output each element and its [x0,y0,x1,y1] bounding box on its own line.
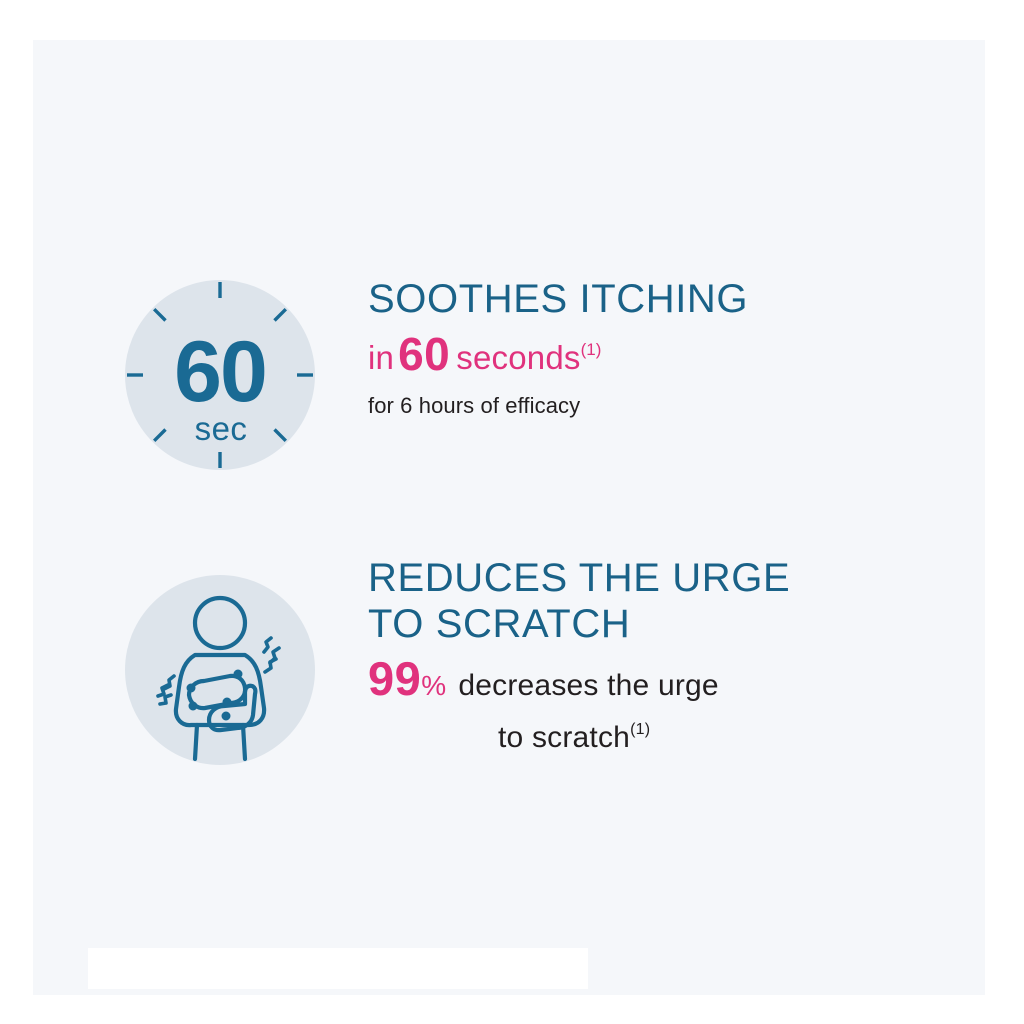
bottom-white-bar [88,948,588,989]
claim-suffix: seconds [456,339,580,376]
product-benefits-panel: 60 sec SOOTHES ITCHING in60seconds(1) fo… [0,0,1024,1024]
claim-text-line1: decreases the urge [458,669,718,702]
benefit-2-headline: REDUCES THE URGE TO SCRATCH [368,555,790,647]
benefit-2-claim: 99%decreases the urge to scratch(1) [368,657,790,760]
stopwatch-60-sec-icon: 60 sec [125,280,315,470]
benefit-1-copy: SOOTHES ITCHING in60seconds(1) for 6 hou… [368,240,748,420]
benefit-2-copy: REDUCES THE URGE TO SCRATCH 99%decreases… [368,535,790,760]
content-panel: 60 sec SOOTHES ITCHING in60seconds(1) fo… [33,40,985,995]
claim-footnote-marker: (1) [581,340,602,359]
claim-unit: % [421,670,458,701]
benefit-1-subline: for 6 hours of efficacy [368,392,748,420]
claim-footnote-marker: (1) [630,721,650,738]
benefit-1-claim: in60seconds(1) [368,328,748,380]
benefit-block-soothes-itching: 60 sec SOOTHES ITCHING in60seconds(1) fo… [125,240,748,470]
claim-line-2: to scratch(1) [368,708,790,760]
claim-value: 60 [394,328,456,380]
claim-prefix: in [368,339,394,376]
stopwatch-number: 60 [174,324,266,420]
person-scratching-arm-icon [125,575,315,765]
claim-text-line2: to scratch [498,721,630,754]
claim-value: 99 [368,652,421,705]
benefit-block-reduces-urge-to-scratch: REDUCES THE URGE TO SCRATCH 99%decreases… [125,535,790,765]
benefit-1-headline: SOOTHES ITCHING [368,276,748,322]
stopwatch-unit: sec [195,410,248,447]
